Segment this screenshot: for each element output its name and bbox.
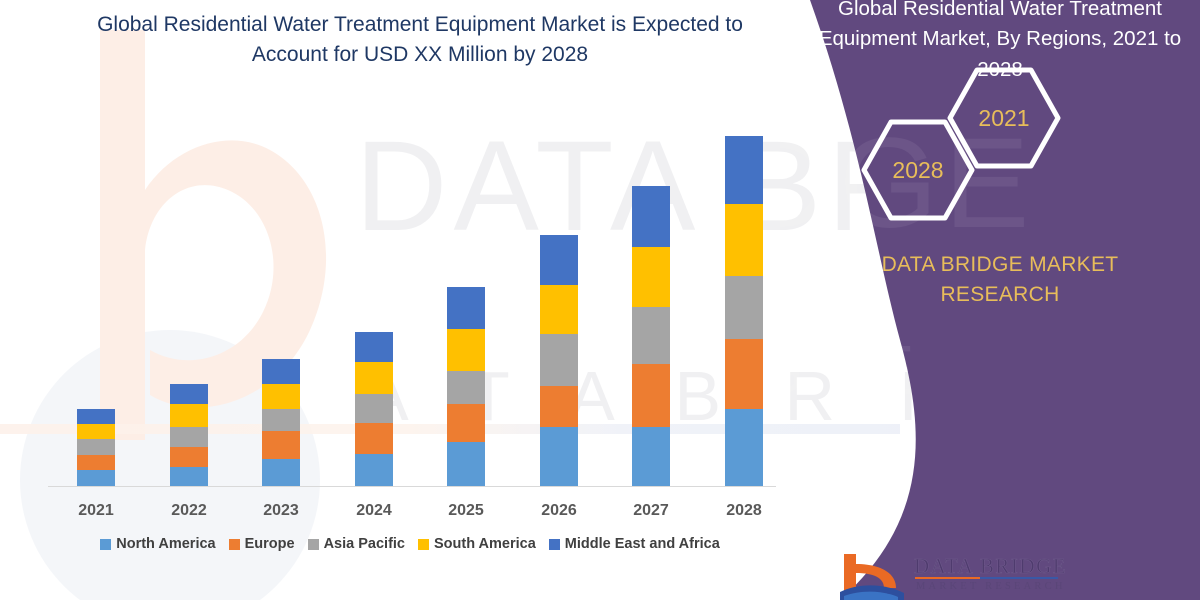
legend-label-asia-pacific: Asia Pacific (324, 536, 405, 552)
legend-item-middle-east-and-africa[interactable]: Middle East and Africa (549, 536, 720, 552)
bar-segment-2027-south-america (632, 247, 670, 307)
bar-segment-2025-europe (447, 404, 485, 442)
legend-item-north-america[interactable]: North America (100, 536, 215, 552)
bar-segment-2028-north-america (725, 409, 763, 486)
bar-segment-2026-asia-pacific (540, 334, 578, 386)
footer-wordmark: DATA BRIDGE (914, 554, 1067, 579)
bar-segment-2023-asia-pacific (262, 409, 300, 431)
bar-segment-2025-north-america (447, 442, 485, 486)
bar-segment-2028-south-america (725, 204, 763, 276)
legend-swatch-south-america (418, 539, 429, 550)
bar-segment-2025-middle-east-and-africa (447, 287, 485, 329)
b-bridge-logo-icon (840, 552, 910, 600)
bar-segment-2024-middle-east-and-africa (355, 332, 393, 362)
bar-segment-2026-europe (540, 386, 578, 427)
footer-logo: DATA BRIDGE MARKET RESEARCH (840, 552, 1140, 600)
brand-name: DATA BRIDGE MARKET RESEARCH (825, 250, 1175, 311)
bar-segment-2024-asia-pacific (355, 394, 393, 423)
bar-2022 (170, 384, 208, 486)
bar-segment-2021-europe (77, 455, 115, 470)
bar-segment-2024-europe (355, 423, 393, 454)
x-axis-label-2025: 2025 (431, 502, 501, 520)
legend-label-europe: Europe (245, 536, 295, 552)
bar-segment-2027-asia-pacific (632, 307, 670, 364)
legend-label-middle-east-and-africa: Middle East and Africa (565, 536, 720, 552)
hexagon-2021-label: 2021 (978, 105, 1029, 132)
x-axis-label-2027: 2027 (616, 502, 686, 520)
panel-watermark-bottom: G E (780, 330, 937, 410)
x-axis-label-2024: 2024 (339, 502, 409, 520)
bar-segment-2022-north-america (170, 467, 208, 486)
bar-2021 (77, 409, 115, 486)
x-axis-label-2026: 2026 (524, 502, 594, 520)
footer-rule-blue (980, 577, 1058, 579)
legend-item-asia-pacific[interactable]: Asia Pacific (308, 536, 405, 552)
infographic-root: DATA BRI A T A B R I D G E Global Reside… (0, 0, 1200, 600)
legend-label-north-america: North America (116, 536, 215, 552)
legend-swatch-north-america (100, 539, 111, 550)
bar-2023 (262, 359, 300, 486)
footer-subwordmark: MARKET RESEARCH (916, 581, 1066, 592)
bar-segment-2022-europe (170, 447, 208, 467)
bar-segment-2021-north-america (77, 470, 115, 486)
x-axis-label-2028: 2028 (709, 502, 779, 520)
bar-segment-2023-europe (262, 431, 300, 459)
legend-item-south-america[interactable]: South America (418, 536, 536, 552)
stacked-bar-chart: 20212022202320242025202620272028 (40, 110, 780, 490)
bar-segment-2023-south-america (262, 384, 300, 409)
x-axis-label-2023: 2023 (246, 502, 316, 520)
x-axis-labels: 20212022202320242025202620272028 (40, 502, 780, 526)
bar-segment-2022-asia-pacific (170, 427, 208, 447)
bar-segment-2023-middle-east-and-africa (262, 359, 300, 384)
bar-segment-2024-south-america (355, 362, 393, 394)
chart-title: Global Residential Water Treatment Equip… (70, 10, 770, 71)
x-axis-label-2022: 2022 (154, 502, 224, 520)
x-axis-label-2021: 2021 (61, 502, 131, 520)
brand-line-1: DATA BRIDGE MARKET (825, 250, 1175, 280)
hexagon-group: 2028 2021 (860, 92, 1190, 212)
bar-segment-2023-north-america (262, 459, 300, 486)
bar-segment-2025-asia-pacific (447, 371, 485, 404)
bar-2025 (447, 287, 485, 486)
chart-plot-area (40, 110, 780, 487)
legend-swatch-asia-pacific (308, 539, 319, 550)
bar-segment-2022-south-america (170, 404, 208, 427)
bar-segment-2022-middle-east-and-africa (170, 384, 208, 404)
bar-2028 (725, 136, 763, 486)
bar-segment-2028-middle-east-and-africa (725, 136, 763, 204)
bar-segment-2027-north-america (632, 427, 670, 486)
bar-segment-2027-middle-east-and-africa (632, 186, 670, 247)
bar-segment-2026-south-america (540, 285, 578, 334)
bar-2027 (632, 186, 670, 486)
bar-2024 (355, 332, 393, 486)
bar-segment-2026-middle-east-and-africa (540, 235, 578, 285)
hexagon-2028-label: 2028 (892, 157, 943, 184)
bar-segment-2026-north-america (540, 427, 578, 486)
brand-line-2: RESEARCH (825, 280, 1175, 310)
hexagon-2021: 2021 (946, 66, 1062, 170)
bar-2026 (540, 235, 578, 486)
x-axis-line (48, 486, 776, 487)
bar-segment-2028-europe (725, 339, 763, 409)
chart-legend: North AmericaEuropeAsia PacificSouth Ame… (40, 536, 780, 552)
panel-content: DGE G E Global Residential Water Treatme… (780, 0, 1200, 600)
legend-swatch-europe (229, 539, 240, 550)
bar-segment-2021-asia-pacific (77, 439, 115, 455)
brand-panel: DGE G E Global Residential Water Treatme… (780, 0, 1200, 600)
bar-segment-2021-middle-east-and-africa (77, 409, 115, 424)
bar-segment-2024-north-america (355, 454, 393, 486)
legend-item-europe[interactable]: Europe (229, 536, 295, 552)
legend-swatch-middle-east-and-africa (549, 539, 560, 550)
bar-segment-2027-europe (632, 364, 670, 427)
bar-segment-2025-south-america (447, 329, 485, 371)
legend-label-south-america: South America (434, 536, 536, 552)
bar-segment-2028-asia-pacific (725, 276, 763, 339)
bar-segment-2021-south-america (77, 424, 115, 439)
